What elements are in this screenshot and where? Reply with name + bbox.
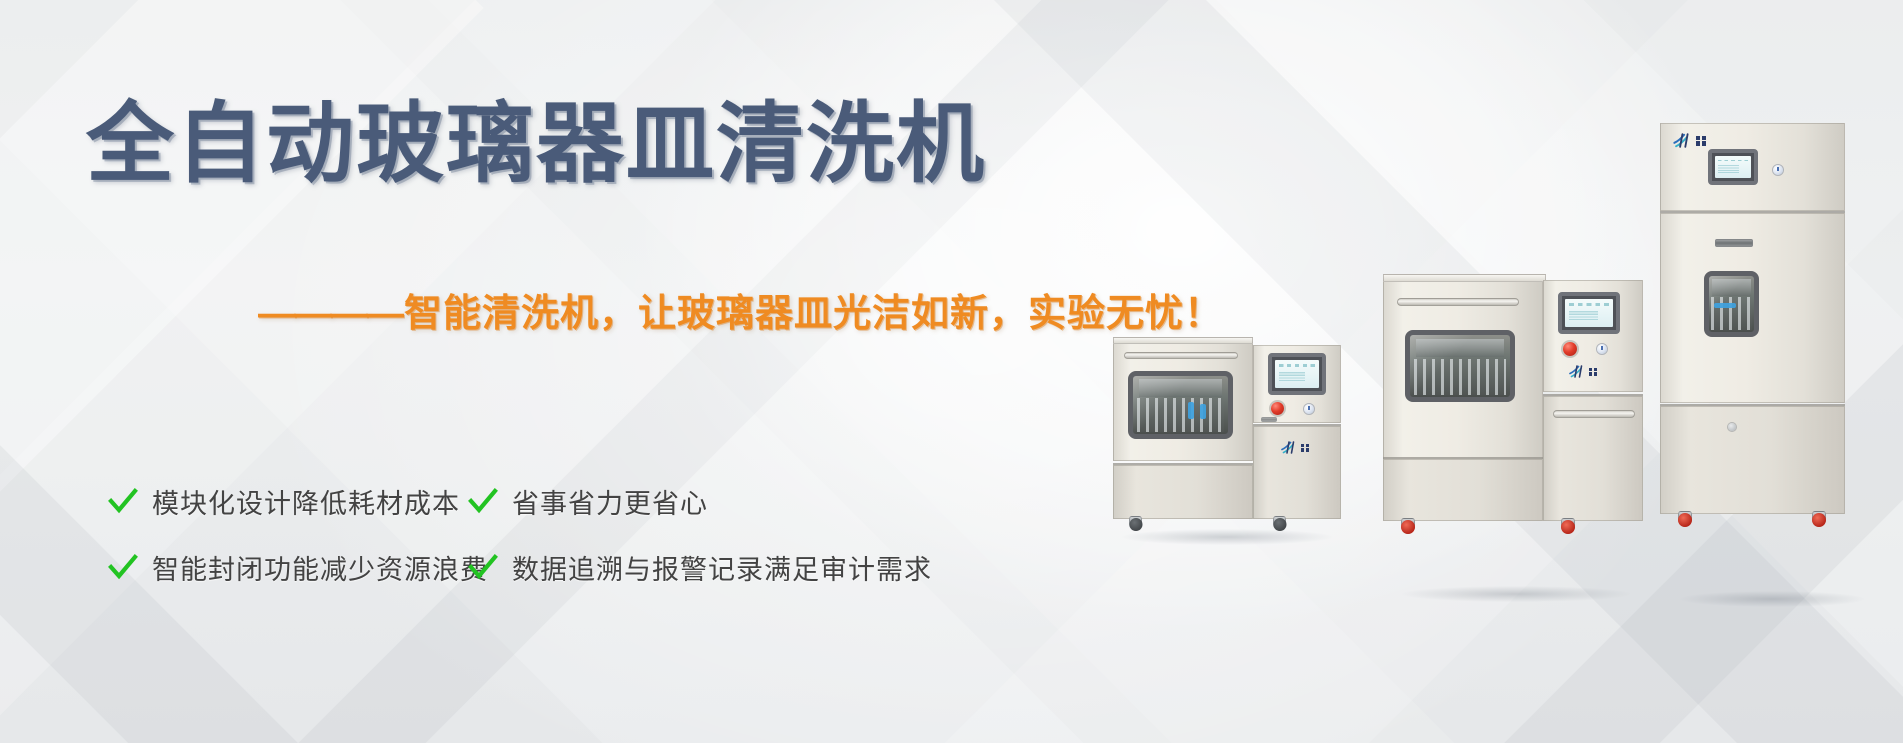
- product-image-group: [0, 0, 1903, 743]
- brand-logo-icon: [1673, 133, 1693, 148]
- product-single-door-washer-body: [1383, 270, 1649, 518]
- product-undercounter-washer-body: [1113, 333, 1341, 515]
- product-image-vertical-washer-shadow: [1672, 505, 1872, 601]
- product-hero-banner: 全自动玻璃器皿清洗机 ————智能清洗机，让玻璃器皿光洁如新，实验无忧！ 模块化…: [0, 0, 1903, 743]
- product-vertical-washer-body: [1660, 123, 1872, 519]
- brand-logo-icon: [1281, 441, 1298, 454]
- brand-logo-icon: [1569, 365, 1586, 378]
